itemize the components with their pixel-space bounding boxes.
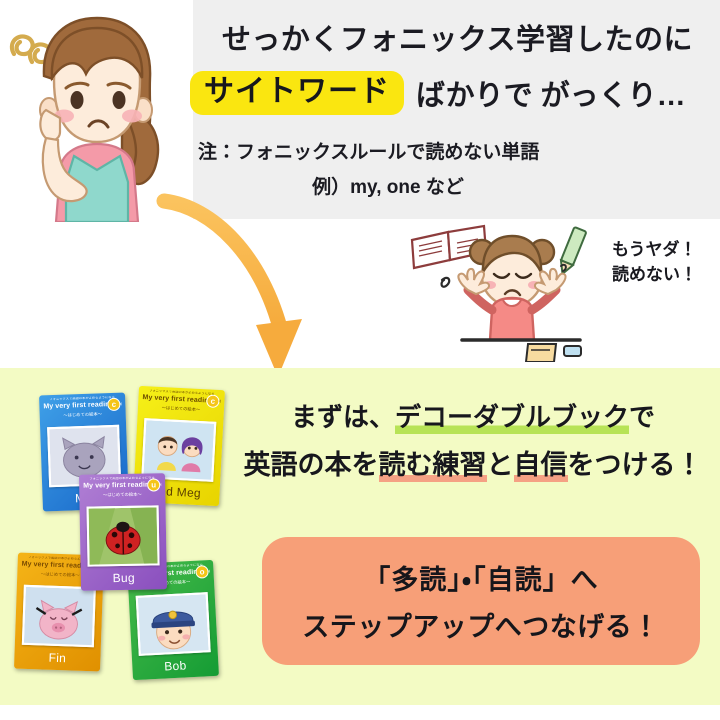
sight-word-tail-text: ばかりで がっくり… — [416, 72, 686, 114]
solution-text-f: をつける！ — [568, 450, 703, 480]
page-headline: せっかくフォニックス学習したのに — [200, 16, 715, 58]
book-label: Bug — [81, 570, 167, 585]
frustrated-kid-illustration — [404, 222, 604, 362]
book-cover-photo — [87, 505, 160, 566]
sight-word-row: サイトワード ばかりで がっくり… — [190, 66, 720, 120]
kid-speech-line-1: もうヤダ！ — [612, 238, 697, 263]
solution-text-e: と — [487, 450, 514, 480]
book-phoneme-badge: c — [107, 398, 120, 411]
flying-pencil-icon — [556, 227, 586, 276]
decodable-book-highlight: デコーダブルブック — [395, 402, 629, 434]
book-card-bug[interactable]: フォニックスで英語の本がよめるようになる My very first readi… — [79, 473, 167, 590]
kid-speech-line-2: 読めない！ — [612, 263, 697, 288]
book-phoneme-badge: o — [195, 565, 209, 579]
infographic-canvas: せっかくフォニックス学習したのに サイトワード ばかりで がっくり… 注：フォニ… — [0, 0, 720, 720]
two-children-illustration — [143, 420, 214, 480]
bottom-white-strip — [0, 705, 720, 720]
decodable-books-collage: フォニックスで英語の本がよめるようになる My very first readi… — [8, 386, 240, 686]
book-header: フォニックスで英語の本がよめるようになる My very first readi… — [79, 473, 166, 504]
book-header: フォニックスで英語の本がよめるようになる My very first readi… — [39, 393, 126, 426]
curved-down-arrow-icon — [150, 185, 340, 385]
pig-illustration — [24, 587, 94, 646]
solution-headline-line-1: まずは、デコーダブルブックで — [228, 397, 718, 434]
cta-line-2: ステップアップへつなげる！ — [302, 605, 660, 644]
book-subtitle: ～はじめての絵本～ — [44, 411, 122, 420]
step-up-callout-box: 「多読」・「自読」へ ステップアップへつなげる！ — [262, 537, 700, 665]
motion-squiggle-icon — [442, 278, 450, 287]
cta-line-1: 「多読」・「自読」へ — [363, 558, 598, 597]
sight-word-highlight-chip: サイトワード — [190, 71, 404, 115]
ladybug-illustration — [89, 507, 158, 565]
note-definition-line: 注：フォニックスルールで読めない単語 — [198, 137, 539, 164]
book-cover-photo — [136, 592, 211, 656]
reading-practice-highlight: 読む練習 — [379, 450, 487, 482]
book-phoneme-badge: u — [147, 478, 160, 491]
policeman-illustration — [138, 594, 209, 654]
solution-text-d: 英語の本を — [244, 450, 379, 480]
kid-speech-text: もうヤダ！ 読めない！ — [612, 238, 697, 287]
book-header: フォニックスで英語の本がよめるようになる My very first readi… — [138, 386, 225, 420]
confidence-highlight: 自信 — [514, 450, 568, 482]
solution-text-c: で — [629, 402, 655, 432]
notebook-icon — [526, 344, 556, 362]
solution-headline-line-2: 英語の本を読む練習と自信をつける！ — [228, 443, 718, 482]
solution-text-a: まずは、 — [291, 402, 395, 432]
book-cover-photo — [22, 585, 96, 647]
book-label: Bob — [132, 657, 219, 675]
book-cover-photo — [141, 418, 216, 482]
book-label: Fin — [14, 649, 100, 666]
eraser-icon — [564, 346, 581, 356]
book-phoneme-badge: c — [206, 394, 220, 408]
book-subtitle: ～はじめての絵本～ — [83, 491, 161, 498]
